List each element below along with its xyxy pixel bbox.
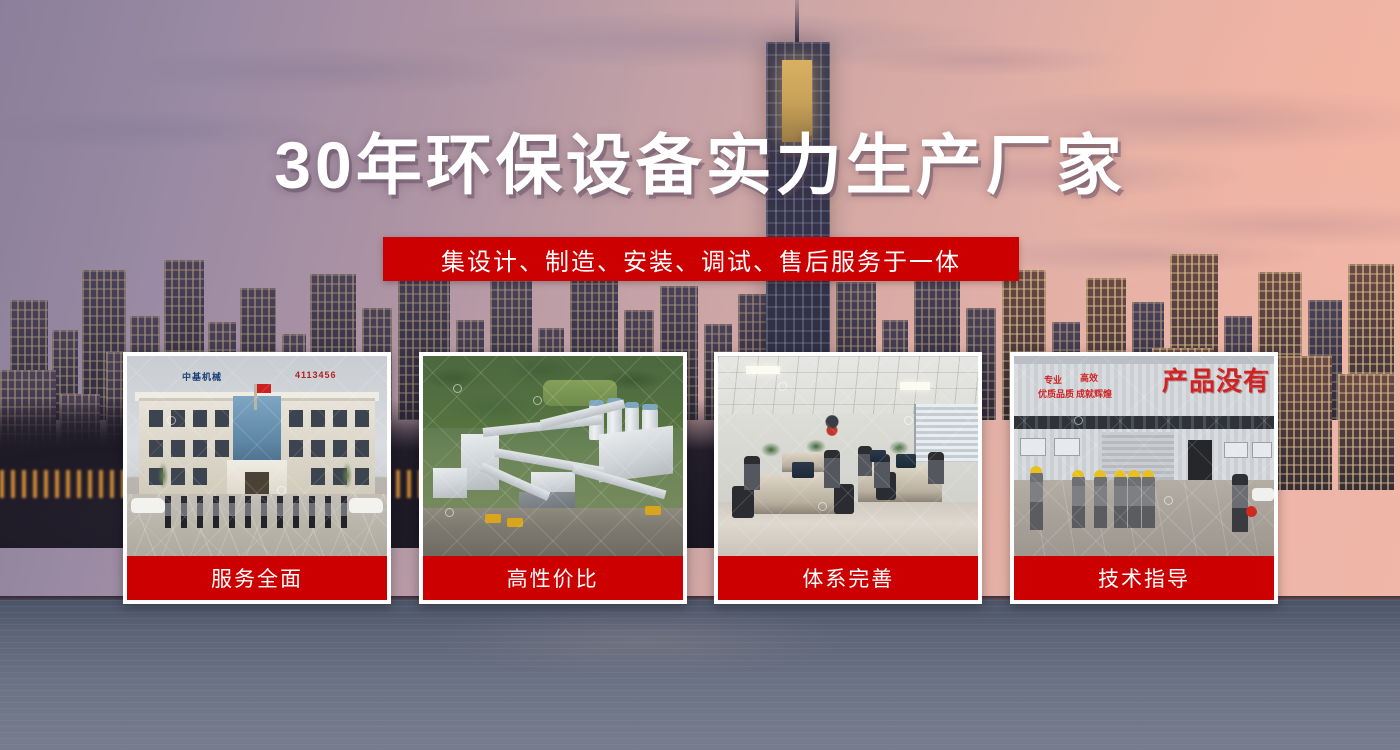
card-caption: 服务全面 — [127, 556, 387, 600]
factory-wall-slogan: 产品没有 — [1162, 368, 1270, 394]
workers-training-photo: 产品没有 专业 高效 优质品质 成就辉煌 — [1014, 356, 1274, 556]
factory-wall-small-1: 专业 — [1044, 376, 1062, 386]
feature-card[interactable]: 中基机械 4113456 服务全面 — [123, 352, 391, 604]
water-reflection — [0, 600, 1400, 750]
factory-wall-small-2: 高效 — [1080, 374, 1098, 384]
page-title: 30年环保设备实力生产厂家 — [0, 132, 1400, 198]
feature-card-list: 中基机械 4113456 服务全面 — [123, 352, 1278, 604]
subtitle-text: 集设计、制造、安装、调试、售后服务于一体 — [441, 242, 961, 277]
factory-wall-small-4: 成就辉煌 — [1076, 390, 1112, 400]
promo-banner: 30年环保设备实力生产厂家 集设计、制造、安装、调试、售后服务于一体 — [0, 0, 1400, 750]
office-interior-photo — [718, 356, 978, 556]
card-caption: 技术指导 — [1014, 556, 1274, 600]
feature-card[interactable]: 体系完善 — [714, 352, 982, 604]
subtitle-banner: 集设计、制造、安装、调试、售后服务于一体 — [383, 237, 1019, 281]
feature-card[interactable]: 产品没有 专业 高效 优质品质 成就辉煌 — [1010, 352, 1278, 604]
building-phone-text: 4113456 — [295, 370, 337, 380]
card-caption: 高性价比 — [423, 556, 683, 600]
building-sign-text: 中基机械 — [182, 370, 222, 383]
card-caption: 体系完善 — [718, 556, 978, 600]
company-headquarters-photo: 中基机械 4113456 — [127, 356, 387, 556]
aerial-production-plant-photo — [423, 356, 683, 556]
factory-wall-small-3: 优质品质 — [1038, 390, 1074, 400]
feature-card[interactable]: 高性价比 — [419, 352, 687, 604]
